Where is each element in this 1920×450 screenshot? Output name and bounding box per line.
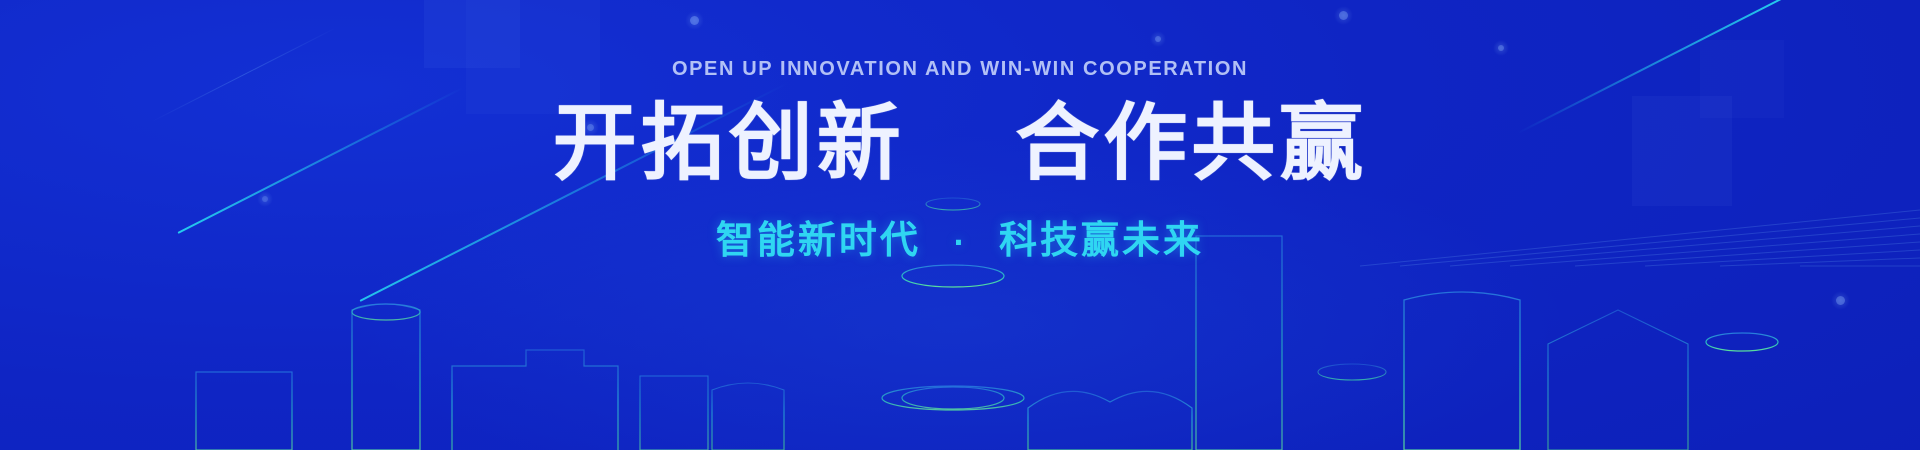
building-rounded-block [1404,292,1520,450]
building-round-short [1318,364,1386,450]
hero-banner: OPEN UP INNOVATION AND WIN-WIN COOPERATI… [0,0,1920,450]
building-cylinder-right [1706,333,1778,450]
building [640,376,708,450]
building [712,383,784,450]
subtitle-phrase-left: 智能新时代 [716,218,921,262]
building [452,350,618,450]
building [1788,388,1844,450]
building [112,416,208,450]
banner-subtitle: 智能新时代 · 科技赢未来 [0,209,1920,264]
building-pods [1028,391,1192,450]
headline-phrase-left: 开拓创新 [553,94,905,192]
subtitle-phrase-right: 科技赢未来 [999,218,1204,262]
banner-headline: 开拓创新 合作共赢 [0,101,1920,185]
building-rounded-tower [352,304,420,450]
headline-phrase-right: 合作共赢 [1015,94,1367,192]
building [258,386,336,450]
subtitle-separator-dot: · [937,226,983,259]
building [1256,312,1302,450]
banner-content: OPEN UP INNOVATION AND WIN-WIN COOPERATI… [0,0,1920,264]
building-stepped [1548,310,1688,450]
banner-eyebrow-text: OPEN UP INNOVATION AND WIN-WIN COOPERATI… [0,58,1920,81]
building [1848,395,1920,450]
building [836,428,906,450]
